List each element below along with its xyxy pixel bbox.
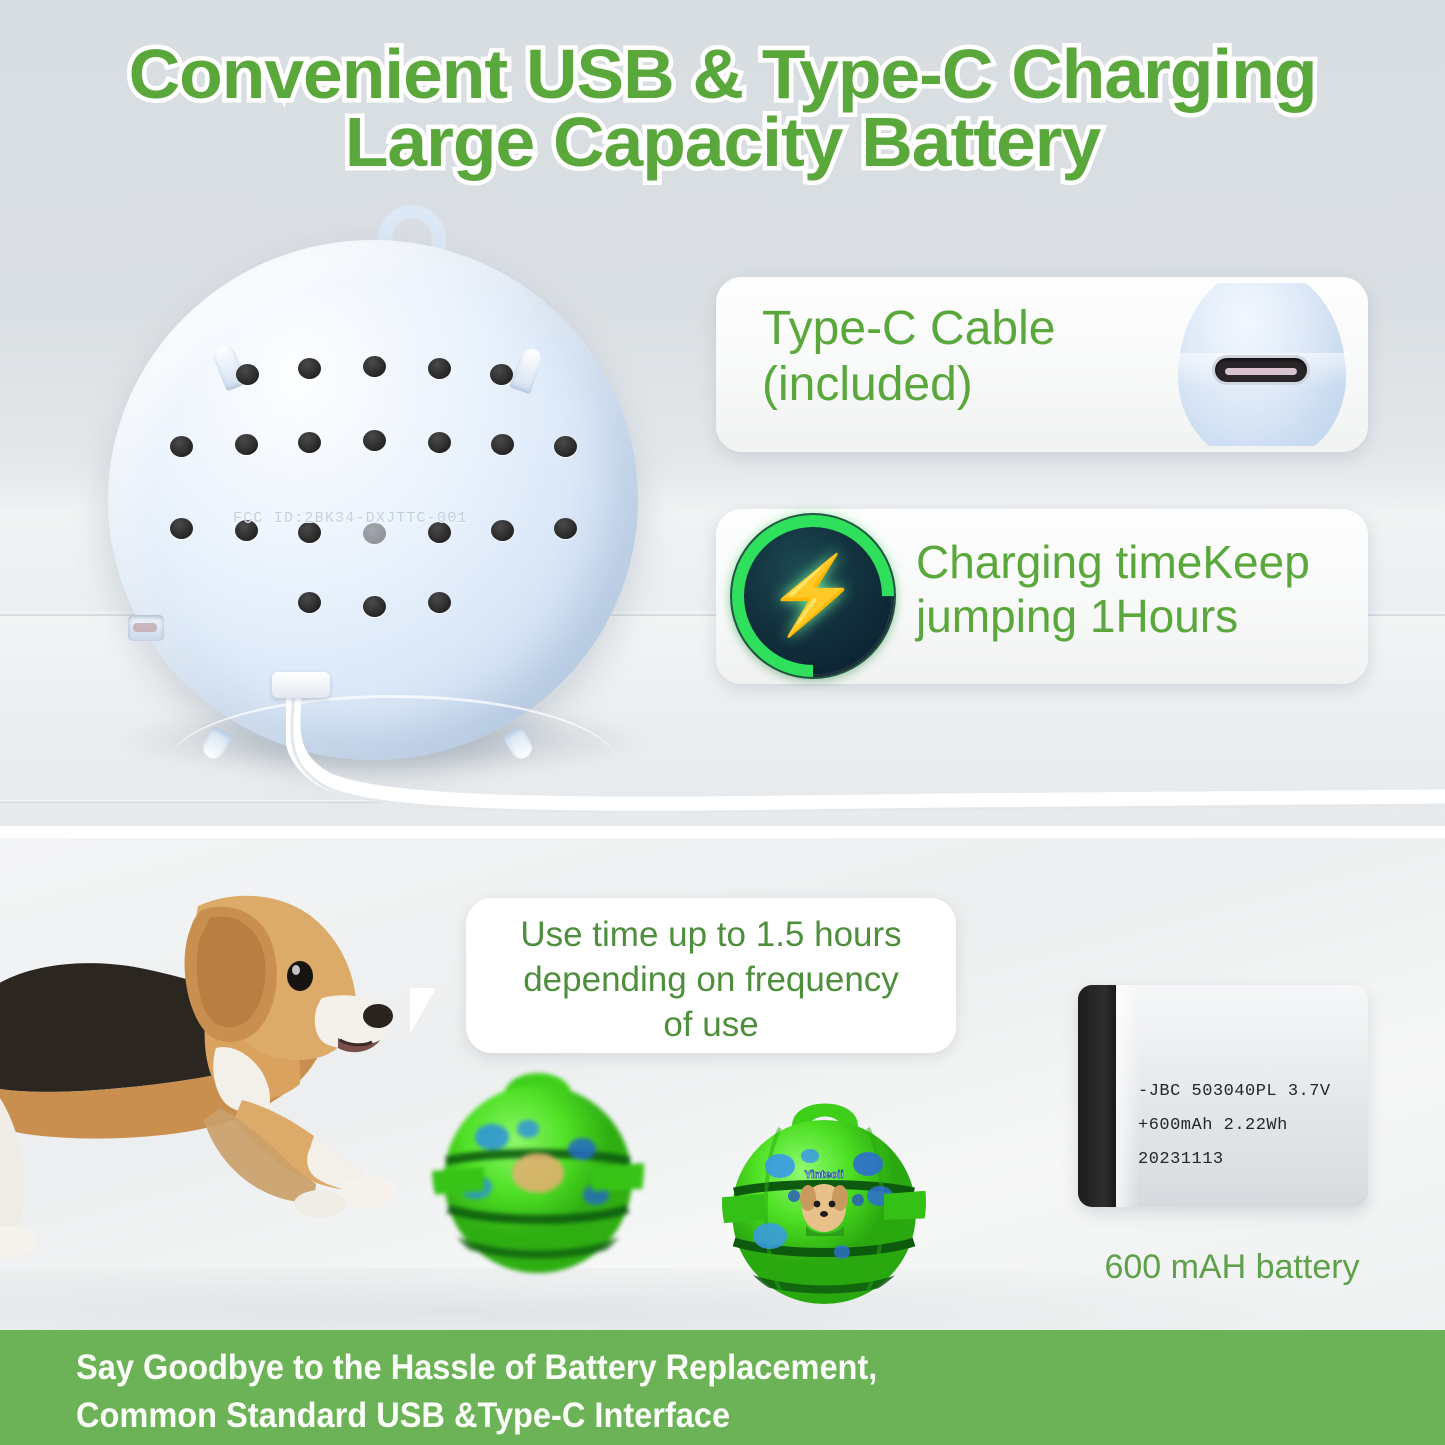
lightning-bolt-icon: ⚡ <box>734 517 892 675</box>
speaker-hole <box>428 592 451 613</box>
use-time-line1: Use time up to 1.5 hours <box>520 915 901 954</box>
bolt-glyph: ⚡ <box>766 558 861 634</box>
product-ball: FCC ID:2BK34-DXJTTC-001 <box>108 240 638 760</box>
type-c-line1: Type-C Cable <box>762 302 1055 355</box>
type-c-card-text: Type-C Cable (included) <box>762 301 1202 413</box>
speaker-hole <box>236 364 259 385</box>
battery-print-line1: -JBC 503040PL 3.7V <box>1138 1075 1358 1109</box>
banner-line2: Common Standard USB &Type-C Interface <box>76 1396 730 1435</box>
page-title: Convenient USB & Type-C Charging Large C… <box>0 40 1445 176</box>
charging-line2: jumping 1Hours <box>916 590 1238 642</box>
fcc-id-label: FCC ID:2BK34-DXJTTC-001 <box>233 510 533 527</box>
side-port-slot <box>128 615 164 641</box>
charging-line1: Charging timeKeep <box>916 536 1310 588</box>
speaker-hole <box>235 434 258 455</box>
device-closeup-blob <box>1178 283 1346 446</box>
speaker-hole <box>428 358 451 379</box>
usb-c-port-icon <box>1212 355 1310 385</box>
battery-terminal-tab <box>1078 985 1116 1207</box>
usb-c-port-thumbnail <box>1164 283 1360 446</box>
use-time-line2: depending on frequency <box>523 960 899 999</box>
battery-caption: 600 mAH battery <box>1062 1248 1402 1287</box>
charging-card-text: Charging timeKeep jumping 1Hours <box>916 535 1356 643</box>
toy-ball-right: Yinteoii <box>722 1100 926 1304</box>
battery-sheen <box>1116 985 1140 1207</box>
speaker-hole <box>554 436 577 457</box>
title-line-2: Large Capacity Battery <box>345 103 1100 181</box>
battery-print-text: -JBC 503040PL 3.7V +600mAh 2.22Wh 202311… <box>1138 1075 1358 1177</box>
speaker-hole <box>490 364 513 385</box>
banner-text: Say Goodbye to the Hassle of Battery Rep… <box>76 1344 1239 1440</box>
type-c-cable-card[interactable]: Type-C Cable (included) <box>716 277 1368 452</box>
banner-line1: Say Goodbye to the Hassle of Battery Rep… <box>76 1348 877 1387</box>
toy-brand-label: Yinteoii <box>804 1169 843 1181</box>
bubble-tail <box>410 988 436 1034</box>
device-ball-group: FCC ID:2BK34-DXJTTC-001 <box>88 205 688 765</box>
speaker-hole <box>363 356 386 377</box>
speaker-hole <box>491 434 514 455</box>
speaker-hole <box>428 432 451 453</box>
battery-print-line2: +600mAh 2.22Wh 20231113 <box>1138 1109 1358 1177</box>
cable-plug-icon <box>272 672 330 698</box>
title-line-1: Convenient USB & Type-C Charging <box>129 35 1317 113</box>
speaker-hole <box>298 358 321 379</box>
speaker-hole <box>170 518 193 539</box>
bottom-banner: Say Goodbye to the Hassle of Battery Rep… <box>0 1330 1445 1445</box>
speaker-hole <box>298 432 321 453</box>
charging-time-card[interactable]: ⚡ Charging timeKeep jumping 1Hours <box>716 509 1368 684</box>
speaker-hole <box>298 592 321 613</box>
speaker-hole <box>554 518 577 539</box>
speaker-hole <box>363 596 386 617</box>
use-time-line3: of use <box>663 1005 758 1044</box>
battery-image: -JBC 503040PL 3.7V +600mAh 2.22Wh 202311… <box>1078 985 1368 1207</box>
use-time-bubble[interactable]: Use time up to 1.5 hours depending on fr… <box>466 898 956 1053</box>
use-time-text: Use time up to 1.5 hours depending on fr… <box>486 912 936 1047</box>
speaker-hole <box>363 430 386 451</box>
toy-ball-left <box>432 1063 644 1275</box>
speaker-hole <box>170 436 193 457</box>
vent-clip <box>509 346 545 395</box>
charging-cable <box>286 686 1445 816</box>
dog-image <box>0 848 440 1278</box>
type-c-line2: (included) <box>762 358 973 411</box>
section-divider <box>0 826 1445 838</box>
